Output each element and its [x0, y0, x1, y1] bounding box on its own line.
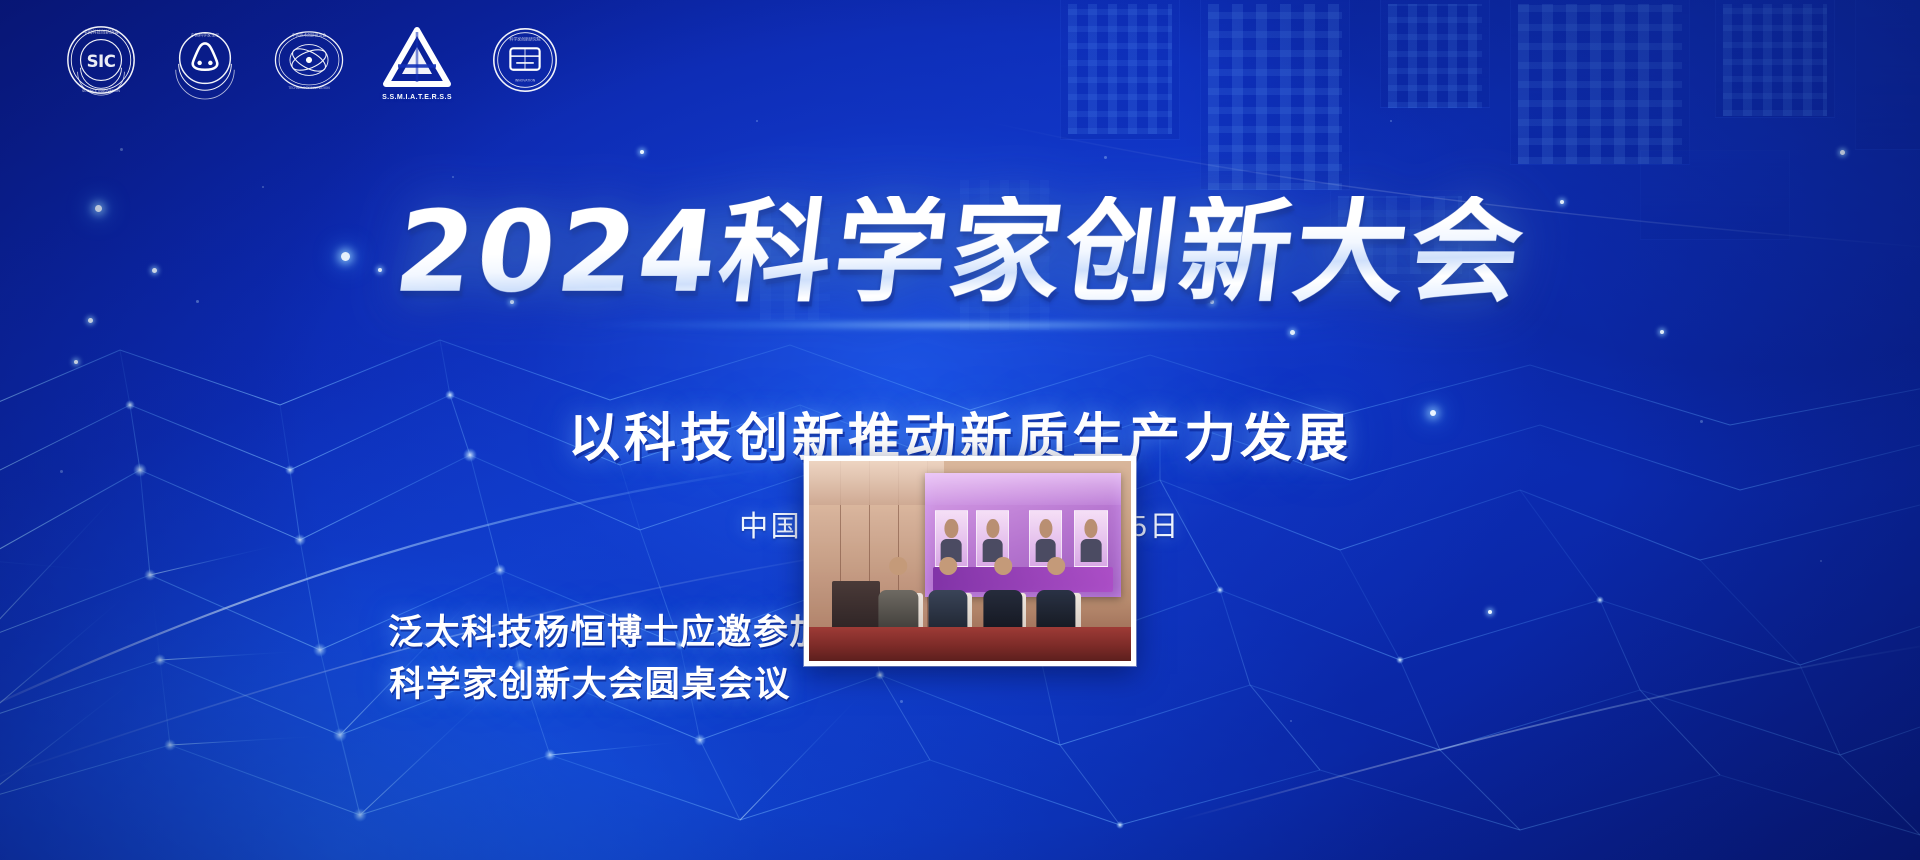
logo-delta-caption: S.S.M.I.A.T.E.R.S.S — [374, 94, 460, 102]
title-block: 2024科学家创新大会 — [0, 196, 1920, 310]
circular-seal-icon: 中国科学家论坛 — [166, 20, 244, 100]
logo-delta-mark: S.S.M.I.A.T.E.R.S.S — [374, 20, 460, 100]
svg-text:中国科技创新协会: 中国科技创新协会 — [83, 29, 119, 36]
banner-canvas: SIC 中国科技创新协会 SCIENCE INNOVATION — [0, 0, 1920, 860]
svg-text:科学家创新研究院: 科学家创新研究院 — [509, 37, 540, 42]
svg-text:SCIENCE INNOVATION: SCIENCE INNOVATION — [82, 89, 120, 93]
main-title: 2024科学家创新大会 — [389, 196, 1532, 310]
photo-scene — [809, 461, 1131, 661]
sponsor-logo-row: SIC 中国科技创新协会 SCIENCE INNOVATION — [62, 20, 564, 100]
svg-text:INNOVATION: INNOVATION — [515, 78, 536, 82]
oval-atom-seal-icon: 中国技术创新促进会 TECHNOLOGY INNOVATION — [270, 20, 348, 100]
floor-carpet — [809, 627, 1131, 661]
panelist — [881, 557, 915, 633]
triangle-mark-icon — [374, 20, 460, 100]
headline-block: 泛太科技杨恒博士应邀参加 科学家创新大会圆桌会议 — [388, 608, 792, 712]
svg-text:SIC: SIC — [87, 52, 116, 71]
circular-seal-icon: 科学家创新研究院 INNOVATION — [486, 20, 564, 100]
logo-sic-seal: SIC 中国科技创新协会 SCIENCE INNOVATION — [62, 20, 140, 100]
panelist — [986, 557, 1020, 633]
title-underglow — [580, 320, 1340, 330]
screen-header — [925, 473, 1121, 505]
panelist — [931, 557, 965, 633]
circular-seal-icon: SIC 中国科技创新协会 SCIENCE INNOVATION — [62, 20, 140, 100]
roundtable-photo — [804, 456, 1136, 666]
logo-triangle-seal: 中国科学家论坛 — [166, 20, 244, 100]
svg-text:中国技术创新促进会: 中国技术创新促进会 — [292, 32, 326, 37]
headline-line-2: 科学家创新大会圆桌会议 — [388, 660, 792, 712]
headline-line-1: 泛太科技杨恒博士应邀参加 — [388, 608, 792, 660]
panelist — [1039, 557, 1073, 633]
logo-shield-seal: 科学家创新研究院 INNOVATION — [486, 20, 564, 100]
svg-text:TECHNOLOGY INNOVATION: TECHNOLOGY INNOVATION — [287, 86, 329, 90]
logo-atom-seal: 中国技术创新促进会 TECHNOLOGY INNOVATION — [270, 20, 348, 100]
svg-text:中国科学家论坛: 中国科学家论坛 — [191, 32, 220, 38]
